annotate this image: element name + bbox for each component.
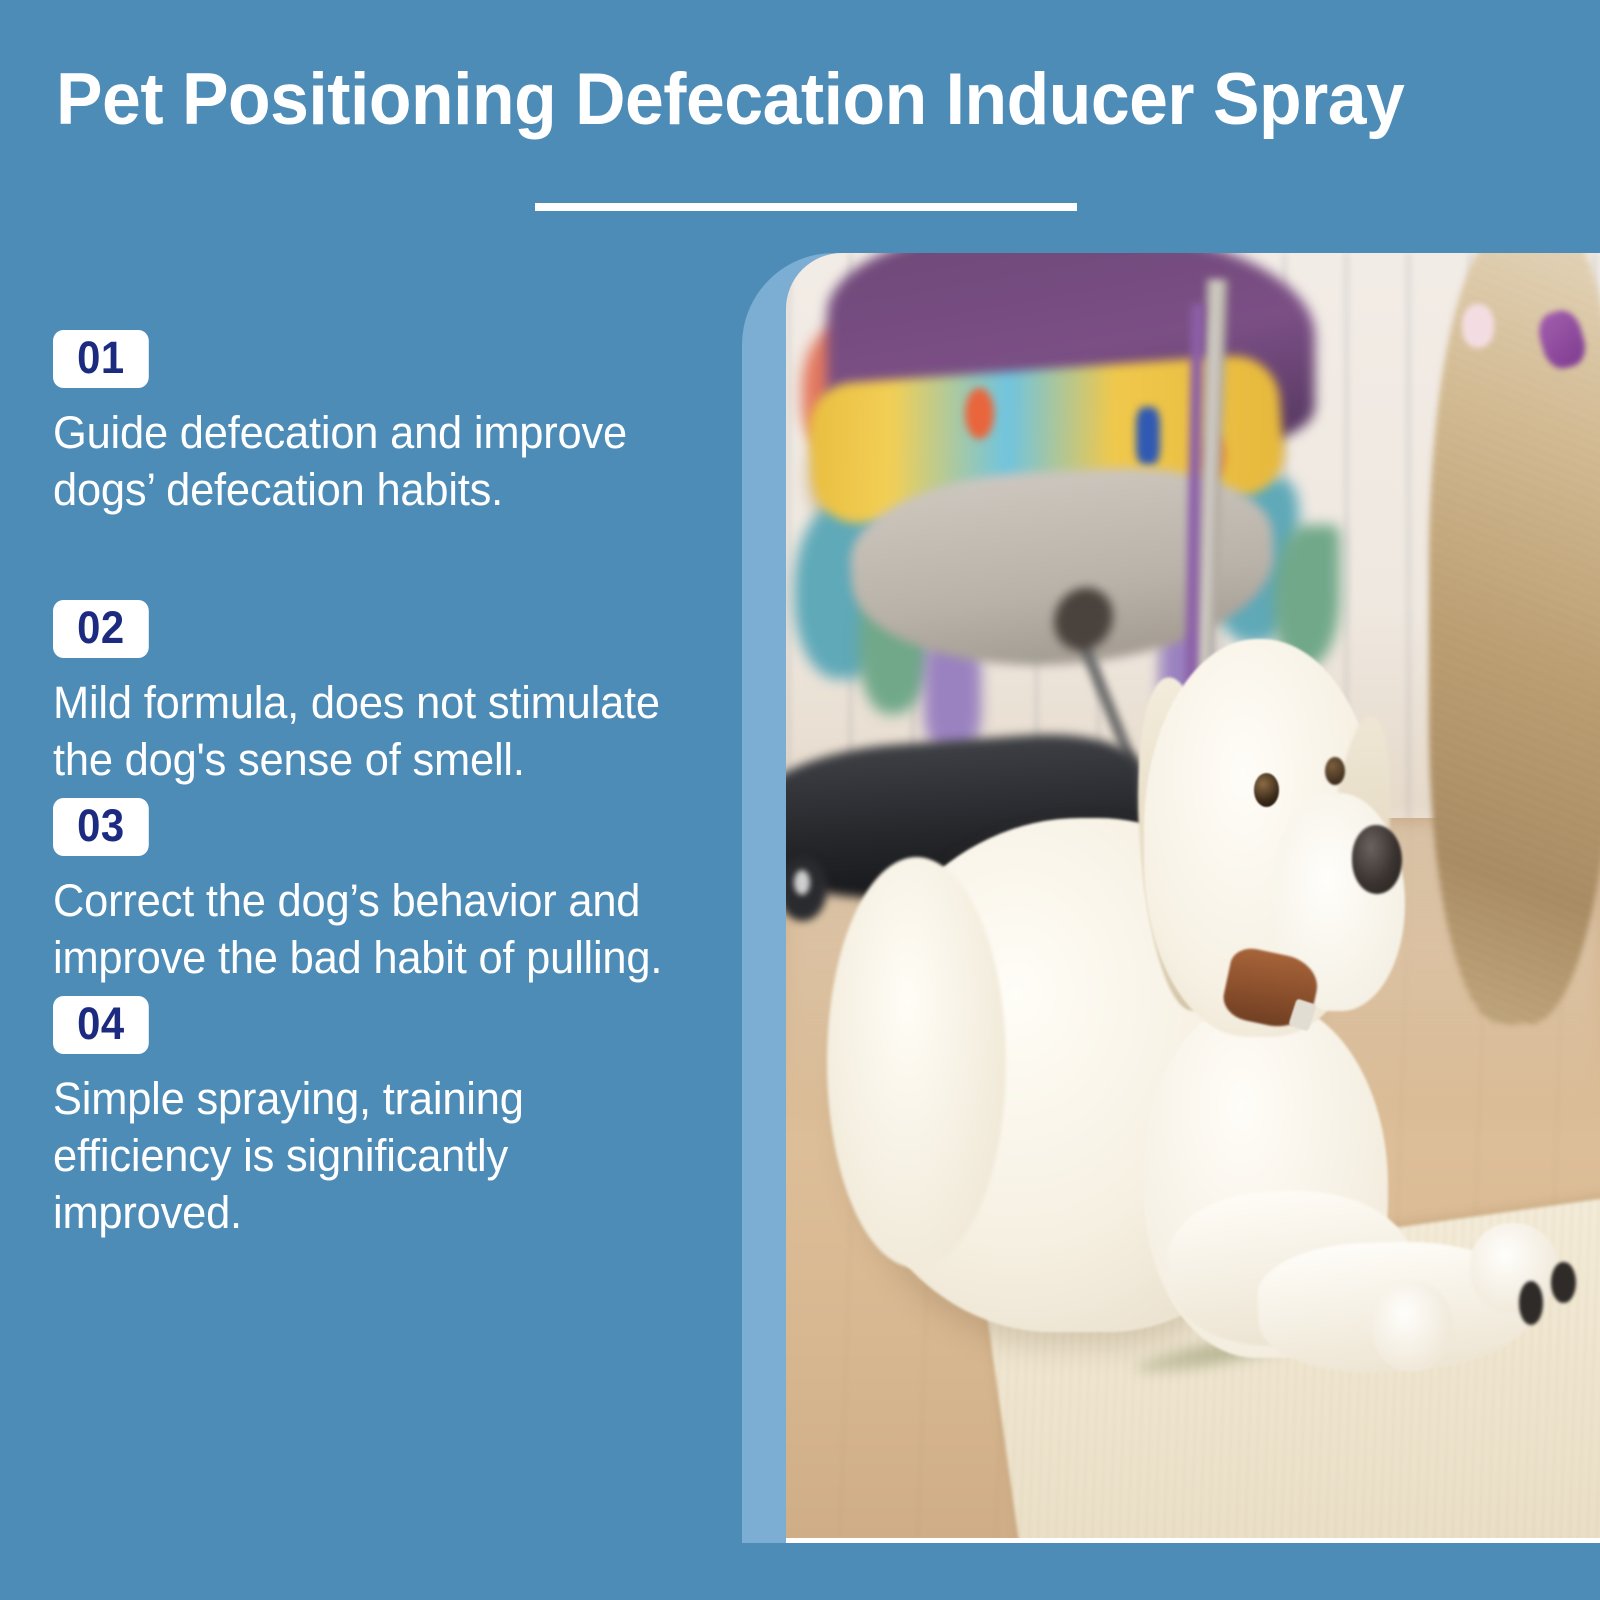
- puppy-eye-far: [1325, 757, 1345, 785]
- feature-text-02: Mild formula, does not stimulate the dog…: [53, 674, 680, 788]
- infographic-poster: Pet Positioning Defecation Inducer Spray…: [0, 0, 1600, 1600]
- feature-text-03: Correct the dog’s behavior and improve t…: [53, 872, 680, 986]
- puppy-paw-pad-2: [1551, 1262, 1575, 1303]
- feature-item-04: 04 Simple spraying, training efficiency …: [53, 996, 713, 1241]
- photo-bottom-edge: [786, 1538, 1600, 1543]
- feature-number-badge-01: 01: [53, 330, 149, 388]
- bouncer-toy-blue: [1136, 407, 1160, 465]
- feature-text-01: Guide defecation and improve dogs’ defec…: [53, 404, 680, 518]
- puppy-photo: [786, 253, 1600, 1538]
- title-divider: [535, 203, 1077, 211]
- photo-panel-frame: [742, 253, 1600, 1543]
- feature-number-badge-03: 03: [53, 798, 149, 856]
- feature-number-badge-04: 04: [53, 996, 149, 1054]
- feature-number-badge-02: 02: [53, 600, 149, 658]
- puppy-paw-near: [1372, 1281, 1453, 1371]
- feature-text-04: Simple spraying, training efficiency is …: [53, 1070, 680, 1241]
- feature-item-02: 02 Mild formula, does not stimulate the …: [53, 600, 713, 788]
- bouncer-toy-orange: [965, 388, 993, 439]
- hair-strands: [1429, 253, 1600, 1024]
- pink-hair-clip: [1462, 304, 1495, 348]
- feature-item-01: 01 Guide defecation and improve dogs’ de…: [53, 330, 713, 518]
- feature-list: 01 Guide defecation and improve dogs’ de…: [53, 330, 713, 1241]
- puppy-paw-far: [1470, 1223, 1560, 1313]
- puppy-eye-near: [1254, 773, 1279, 806]
- photo-scene: [786, 253, 1600, 1538]
- page-title: Pet Positioning Defecation Inducer Spray: [56, 58, 1489, 142]
- feature-item-03: 03 Correct the dog’s behavior and improv…: [53, 798, 713, 986]
- puppy-paw-pad-1: [1519, 1281, 1543, 1325]
- puppy-rump: [827, 857, 1006, 1268]
- puppy-nose: [1352, 825, 1402, 894]
- blonde-girl-hair: [1429, 253, 1600, 1024]
